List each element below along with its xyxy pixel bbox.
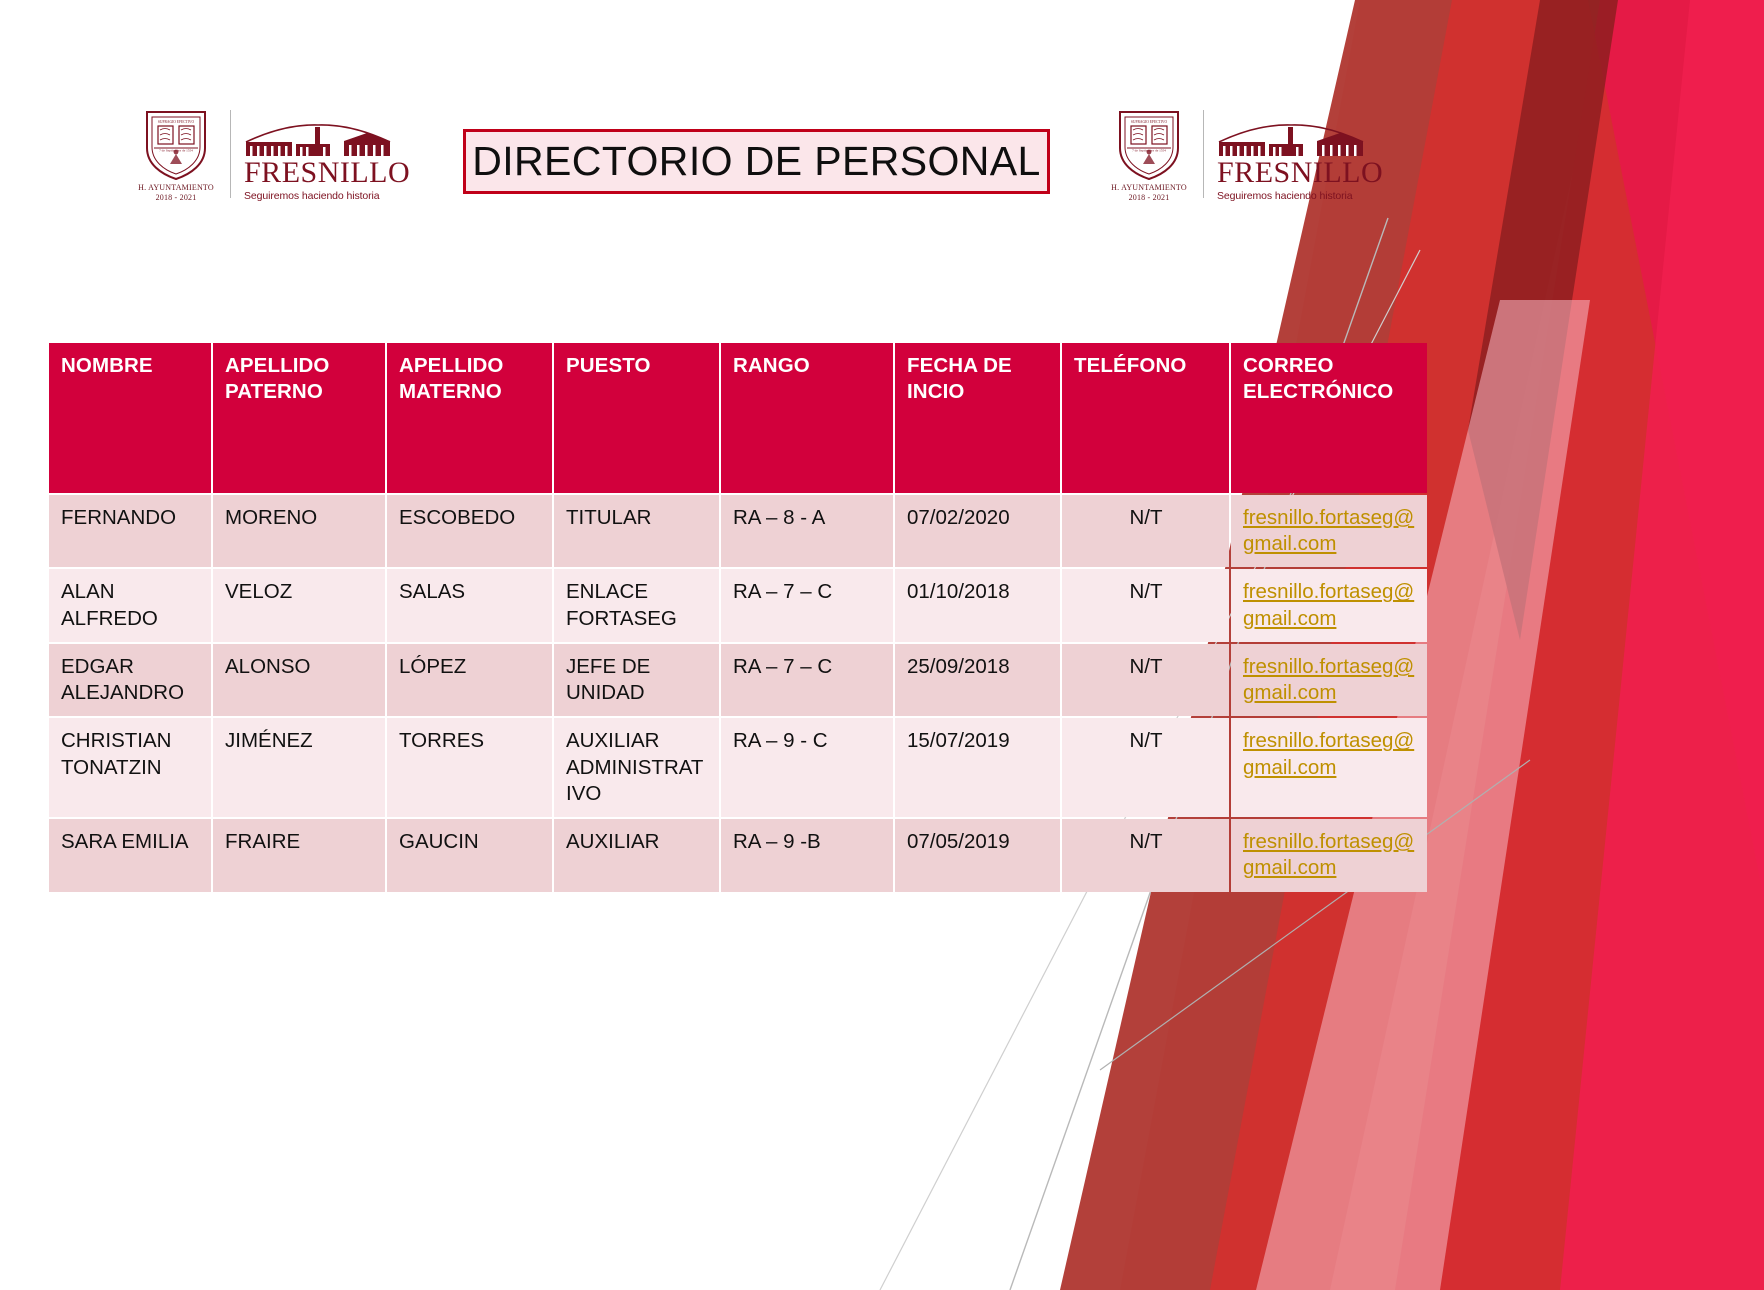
fresnillo-tagline-left: Seguiremos haciendo historia bbox=[244, 190, 410, 202]
table-header-row: NOMBRE APELLIDO PATERNO APELLIDO MATERNO… bbox=[49, 343, 1427, 493]
table-row: SARA EMILIA FRAIRE GAUCIN AUXILIAR RA – … bbox=[49, 819, 1427, 891]
cell-nombre: ALAN ALFREDO bbox=[49, 569, 211, 641]
cell-nombre: FERNANDO bbox=[49, 495, 211, 567]
logo-divider-right bbox=[1203, 110, 1204, 198]
fresnillo-arch-icon bbox=[1217, 122, 1367, 158]
cell-telefono: N/T bbox=[1062, 495, 1229, 567]
fresnillo-wordmark-right: FRESNILLO bbox=[1217, 158, 1383, 188]
cell-apellido-materno: TORRES bbox=[387, 718, 552, 817]
fresnillo-wordmark-left: FRESNILLO bbox=[244, 158, 410, 188]
cell-apellido-materno: SALAS bbox=[387, 569, 552, 641]
fresnillo-logo-right: FRESNILLO Seguiremos haciendo historia bbox=[1217, 108, 1383, 202]
cell-nombre: EDGAR ALEJANDRO bbox=[49, 644, 211, 716]
cell-puesto: AUXILIAR ADMINISTRATIVO bbox=[554, 718, 719, 817]
cell-fecha-inicio: 15/07/2019 bbox=[895, 718, 1060, 817]
column-header-apellido-paterno: APELLIDO PATERNO bbox=[213, 343, 385, 493]
page-title-box: DIRECTORIO DE PERSONAL bbox=[463, 129, 1050, 194]
cell-correo: fresnillo.fortaseg@gmail.com bbox=[1231, 718, 1427, 817]
shield-crest-icon: SUFRAGIO EFECTIVO 7 de Septiembre de 155… bbox=[1116, 108, 1182, 182]
shield-caption-right-line1: H. AYUNTAMIENTO bbox=[1111, 183, 1187, 192]
fresnillo-tagline-right: Seguiremos haciendo historia bbox=[1217, 190, 1383, 202]
cell-telefono: N/T bbox=[1062, 644, 1229, 716]
cell-correo: fresnillo.fortaseg@gmail.com bbox=[1231, 644, 1427, 716]
column-header-apellido-materno: APELLIDO MATERNO bbox=[387, 343, 552, 493]
cell-correo: fresnillo.fortaseg@gmail.com bbox=[1231, 495, 1427, 567]
cell-telefono: N/T bbox=[1062, 718, 1229, 817]
cell-puesto: ENLACE FORTASEG bbox=[554, 569, 719, 641]
cell-fecha-inicio: 01/10/2018 bbox=[895, 569, 1060, 641]
ayuntamiento-shield-right: SUFRAGIO EFECTIVO 7 de Septiembre de 155… bbox=[1108, 108, 1190, 202]
cell-puesto: AUXILIAR bbox=[554, 819, 719, 891]
table-row: EDGAR ALEJANDRO ALONSO LÓPEZ JEFE DE UNI… bbox=[49, 644, 1427, 716]
personnel-directory-table: NOMBRE APELLIDO PATERNO APELLIDO MATERNO… bbox=[47, 341, 1429, 894]
shield-caption-right-line2: 2018 - 2021 bbox=[1129, 193, 1170, 202]
column-header-nombre: NOMBRE bbox=[49, 343, 211, 493]
email-link[interactable]: fresnillo.fortaseg@gmail.com bbox=[1243, 506, 1414, 555]
email-link[interactable]: fresnillo.fortaseg@gmail.com bbox=[1243, 655, 1414, 704]
cell-nombre: CHRISTIAN TONATZIN bbox=[49, 718, 211, 817]
logo-divider-left bbox=[230, 110, 231, 198]
svg-text:SUFRAGIO EFECTIVO: SUFRAGIO EFECTIVO bbox=[158, 120, 195, 124]
ayuntamiento-shield-left: SUFRAGIO EFECTIVO 7 de Septiembre de 155… bbox=[135, 108, 217, 202]
logo-group-left: SUFRAGIO EFECTIVO 7 de Septiembre de 155… bbox=[135, 108, 410, 202]
cell-rango: RA – 9 -B bbox=[721, 819, 893, 891]
cell-apellido-materno: LÓPEZ bbox=[387, 644, 552, 716]
column-header-telefono: TELÉFONO bbox=[1062, 343, 1229, 493]
table-row: FERNANDO MORENO ESCOBEDO TITULAR RA – 8 … bbox=[49, 495, 1427, 567]
fresnillo-logo-left: FRESNILLO Seguiremos haciendo historia bbox=[244, 108, 410, 202]
cell-apellido-paterno: VELOZ bbox=[213, 569, 385, 641]
svg-text:SUFRAGIO EFECTIVO: SUFRAGIO EFECTIVO bbox=[1131, 120, 1168, 124]
cell-apellido-paterno: ALONSO bbox=[213, 644, 385, 716]
cell-puesto: TITULAR bbox=[554, 495, 719, 567]
svg-text:7 de Septiembre de 1554: 7 de Septiembre de 1554 bbox=[159, 149, 193, 153]
cell-rango: RA – 8 - A bbox=[721, 495, 893, 567]
page-title: DIRECTORIO DE PERSONAL bbox=[472, 138, 1041, 185]
cell-fecha-inicio: 07/05/2019 bbox=[895, 819, 1060, 891]
column-header-correo: CORREO ELECTRÓNICO bbox=[1231, 343, 1427, 493]
email-link[interactable]: fresnillo.fortaseg@gmail.com bbox=[1243, 729, 1414, 778]
cell-telefono: N/T bbox=[1062, 569, 1229, 641]
fresnillo-arch-icon bbox=[244, 122, 394, 158]
shield-crest-icon: SUFRAGIO EFECTIVO 7 de Septiembre de 155… bbox=[143, 108, 209, 182]
column-header-puesto: PUESTO bbox=[554, 343, 719, 493]
cell-correo: fresnillo.fortaseg@gmail.com bbox=[1231, 819, 1427, 891]
cell-apellido-paterno: JIMÉNEZ bbox=[213, 718, 385, 817]
shield-caption-left-line1: H. AYUNTAMIENTO bbox=[138, 183, 214, 192]
slide-canvas: SUFRAGIO EFECTIVO 7 de Septiembre de 155… bbox=[0, 0, 1764, 1290]
shield-caption-left-line2: 2018 - 2021 bbox=[156, 193, 197, 202]
cell-apellido-materno: GAUCIN bbox=[387, 819, 552, 891]
cell-puesto: JEFE DE UNIDAD bbox=[554, 644, 719, 716]
column-header-fecha-inicio: FECHA DE INCIO bbox=[895, 343, 1060, 493]
column-header-rango: RANGO bbox=[721, 343, 893, 493]
svg-text:7 de Septiembre de 1554: 7 de Septiembre de 1554 bbox=[1132, 149, 1166, 153]
cell-rango: RA – 7 – C bbox=[721, 644, 893, 716]
cell-apellido-materno: ESCOBEDO bbox=[387, 495, 552, 567]
email-link[interactable]: fresnillo.fortaseg@gmail.com bbox=[1243, 580, 1414, 629]
cell-nombre: SARA EMILIA bbox=[49, 819, 211, 891]
cell-fecha-inicio: 07/02/2020 bbox=[895, 495, 1060, 567]
cell-apellido-paterno: MORENO bbox=[213, 495, 385, 567]
table-row: ALAN ALFREDO VELOZ SALAS ENLACE FORTASEG… bbox=[49, 569, 1427, 641]
cell-telefono: N/T bbox=[1062, 819, 1229, 891]
cell-correo: fresnillo.fortaseg@gmail.com bbox=[1231, 569, 1427, 641]
cell-rango: RA – 9 - C bbox=[721, 718, 893, 817]
cell-apellido-paterno: FRAIRE bbox=[213, 819, 385, 891]
table-row: CHRISTIAN TONATZIN JIMÉNEZ TORRES AUXILI… bbox=[49, 718, 1427, 817]
cell-rango: RA – 7 – C bbox=[721, 569, 893, 641]
email-link[interactable]: fresnillo.fortaseg@gmail.com bbox=[1243, 830, 1414, 879]
cell-fecha-inicio: 25/09/2018 bbox=[895, 644, 1060, 716]
logo-group-right: SUFRAGIO EFECTIVO 7 de Septiembre de 155… bbox=[1108, 108, 1383, 202]
